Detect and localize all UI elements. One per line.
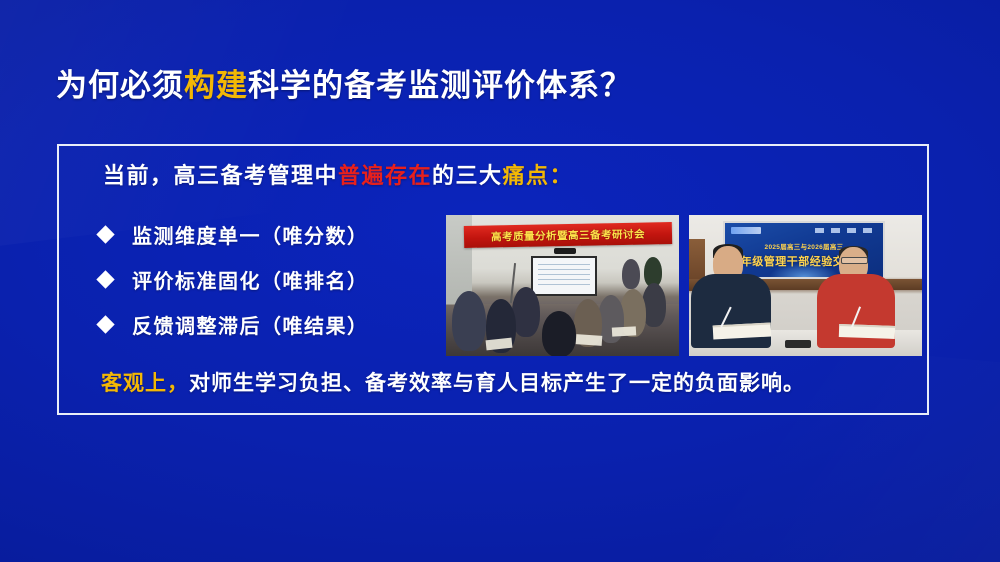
conclusion-body: 对师生学习负担、备考效率与育人目标产生了一定的负面影响。	[189, 372, 805, 395]
heading-part-2: 的三大	[432, 163, 503, 188]
photo1-document	[612, 326, 636, 336]
photo1-person	[452, 291, 486, 351]
conference-room-photo: 高考质量分析暨高三备考研讨会	[446, 215, 679, 356]
list-item-label: 监测维度单一（唯分数）	[132, 220, 369, 249]
title-part-1: 为何必须	[56, 68, 184, 103]
page-title: 为何必须构建科学的备考监测评价体系？	[56, 60, 632, 105]
heading-highlight-red: 普遍存在	[338, 163, 432, 188]
diamond-bullet-icon	[96, 315, 114, 333]
photo1-screen-content	[538, 264, 590, 289]
diamond-bullet-icon	[96, 225, 114, 243]
pain-points-list: 监测维度单一（唯分数） 评价标准固化（唯排名） 反馈调整滞后（唯结果）	[95, 212, 435, 347]
photo1-banner-text: 高考质量分析暨高三备考研讨会	[491, 226, 645, 244]
list-item: 监测维度单一（唯分数）	[95, 212, 435, 257]
panel-heading: 当前，高三备考管理中普遍存在的三大痛点：	[103, 158, 573, 190]
title-part-2: 科学的备考监测评价体系？	[248, 68, 632, 103]
presentation-slide: 为何必须构建科学的备考监测评价体系？ 当前，高三备考管理中普遍存在的三大痛点： …	[0, 0, 1000, 562]
content-panel: 当前，高三备考管理中普遍存在的三大痛点： 监测维度单一（唯分数） 评价标准固化（…	[57, 144, 929, 415]
list-item-label: 评价标准固化（唯排名）	[132, 265, 369, 294]
photo2-notebook	[839, 324, 895, 339]
list-item: 反馈调整滞后（唯结果）	[95, 302, 435, 347]
heading-highlight-gold: 痛点：	[503, 163, 574, 188]
photo1-red-banner: 高考质量分析暨高三备考研讨会	[464, 222, 672, 248]
experience-exchange-photo: 2025届高三与2026届高三 年级管理干部经验交流会	[689, 215, 922, 356]
photo-group: 高考质量分析暨高三备考研讨会	[446, 215, 923, 356]
photo2-school-logo	[731, 227, 761, 234]
list-item: 评价标准固化（唯排名）	[95, 257, 435, 302]
photo1-camera	[554, 248, 576, 254]
photo2-person-glasses	[841, 257, 868, 264]
photo2-microphone	[785, 340, 811, 348]
list-item-label: 反馈调整滞后（唯结果）	[132, 310, 369, 339]
photo1-document	[576, 334, 603, 346]
conclusion-text: 客观上，对师生学习负担、备考效率与育人目标产生了一定的负面影响。	[101, 367, 805, 397]
photo1-person	[622, 259, 640, 289]
heading-part-1: 当前，高三备考管理中	[103, 163, 338, 188]
photo1-person	[542, 311, 576, 356]
diamond-bullet-icon	[96, 270, 114, 288]
photo1-person	[512, 287, 540, 337]
photo1-projector-screen	[531, 256, 597, 296]
title-highlight: 构建	[184, 68, 248, 103]
photo2-screen-menu	[815, 228, 877, 233]
conclusion-highlight: 客观上，	[101, 372, 189, 395]
